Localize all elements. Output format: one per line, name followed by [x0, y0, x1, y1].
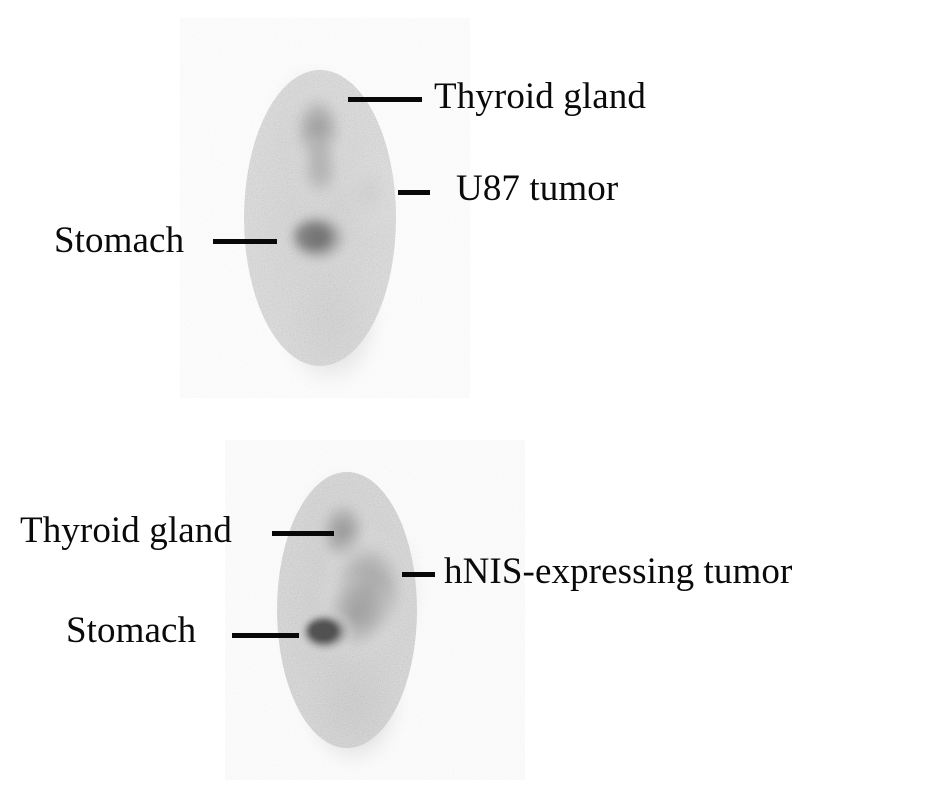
leader-line-hnis-tumor	[402, 572, 435, 577]
scintigram-top-image	[180, 18, 470, 398]
leader-line-stomach-top	[213, 239, 277, 244]
label-thyroid-gland-bottom: Thyroid gland	[20, 512, 232, 549]
leader-line-thyroid-bottom	[272, 531, 334, 536]
scintigram-top-panel	[180, 18, 470, 398]
label-hnis-expressing-tumor: hNIS-expressing tumor	[444, 553, 792, 590]
leader-line-u87-tumor	[398, 190, 430, 195]
leader-line-stomach-bottom	[232, 633, 299, 638]
scintigram-bottom-image	[225, 440, 525, 780]
figure-canvas: Thyroid gland U87 tumor Stomach Thyroid …	[0, 0, 945, 794]
scintigram-bottom-panel	[225, 440, 525, 780]
label-u87-tumor: U87 tumor	[456, 170, 618, 207]
label-stomach-bottom: Stomach	[66, 612, 196, 649]
label-stomach-top: Stomach	[54, 222, 184, 259]
leader-line-thyroid-top	[348, 97, 422, 102]
label-thyroid-gland-top: Thyroid gland	[434, 78, 646, 115]
